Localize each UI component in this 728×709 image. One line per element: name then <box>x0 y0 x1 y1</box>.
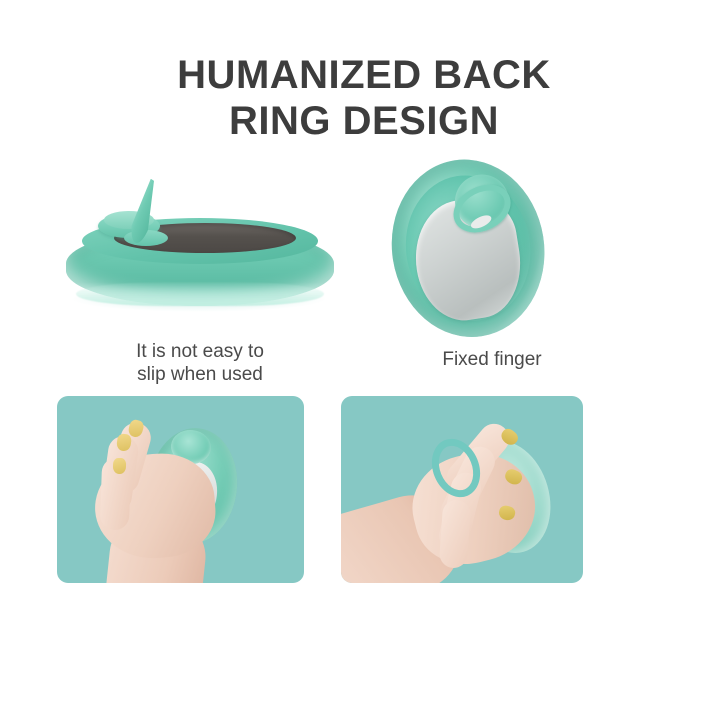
product-infographic: HUMANIZED BACK RING DESIGN <box>0 0 728 709</box>
caption-fixed-finger: Fixed finger <box>392 348 592 371</box>
caption-anti-slip-line-2: slip when used <box>60 363 340 386</box>
product-render-angled-view <box>60 190 340 315</box>
title-line-2: RING DESIGN <box>0 98 728 144</box>
finger-pinky <box>439 499 472 569</box>
title-line-1: HUMANIZED BACK <box>0 52 728 98</box>
caption-anti-slip: It is not easy to slip when used <box>60 340 340 386</box>
product-render-back-view <box>379 146 573 348</box>
photo-panel-hand-grip <box>57 396 304 583</box>
caption-anti-slip-line-1: It is not easy to <box>60 340 340 363</box>
fingernail <box>113 458 127 474</box>
page-title: HUMANIZED BACK RING DESIGN <box>0 52 728 144</box>
device-bottom-rim <box>76 282 324 306</box>
product-render-row <box>0 150 728 340</box>
device-finger-ring <box>447 170 518 239</box>
photo-panel-finger-ring <box>341 396 583 583</box>
